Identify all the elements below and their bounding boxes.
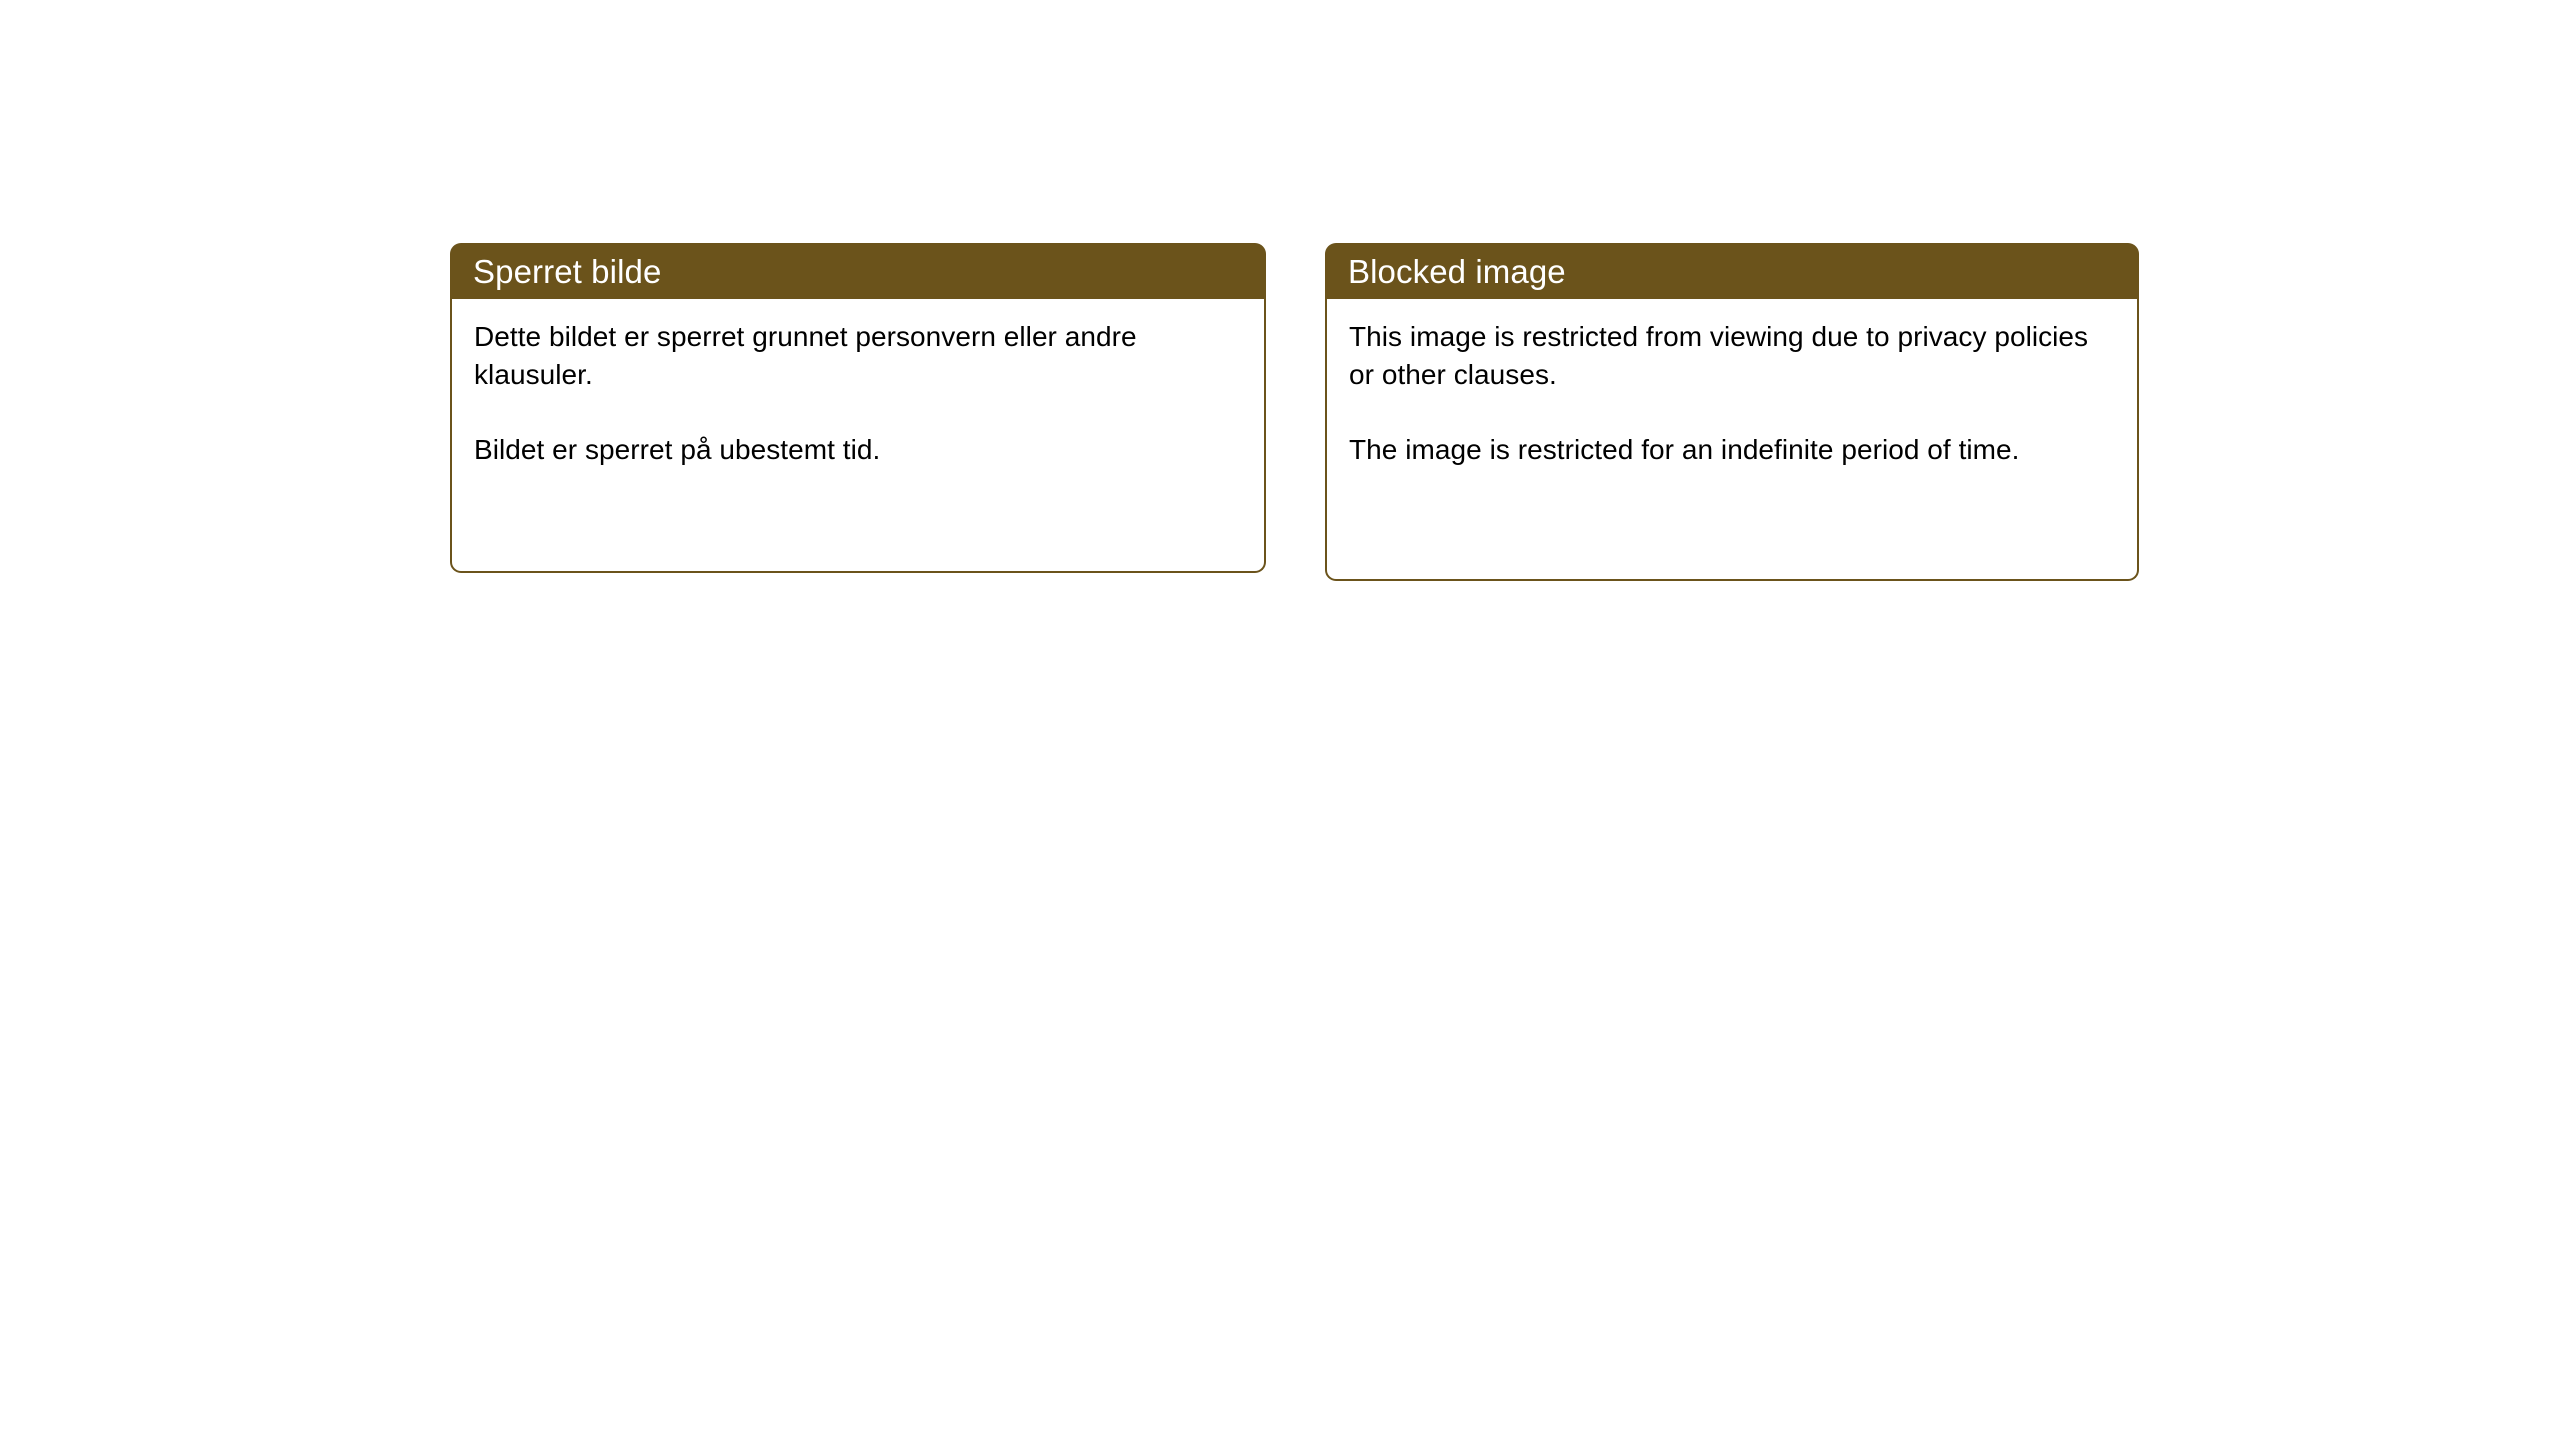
notice-paragraph-duration-en: The image is restricted for an indefinit… [1349,431,2115,469]
panel-header-en: Blocked image [1325,243,2139,299]
panel-title-en: Blocked image [1348,255,1566,288]
blocked-image-notice-en: Blocked image This image is restricted f… [1325,243,2139,581]
notice-paragraph-duration-no: Bildet er sperret på ubestemt tid. [474,431,1242,469]
notice-paragraph-reason-no: Dette bildet er sperret grunnet personve… [474,318,1242,395]
panel-header-no: Sperret bilde [450,243,1266,299]
panel-body-en: This image is restricted from viewing du… [1325,299,2139,581]
paragraph-spacer-en [1349,395,2115,431]
page-root: Sperret bilde Dette bildet er sperret gr… [0,0,2560,1440]
paragraph-spacer-no [474,395,1242,431]
blocked-image-notice-no: Sperret bilde Dette bildet er sperret gr… [450,243,1266,573]
panel-body-no: Dette bildet er sperret grunnet personve… [450,299,1266,573]
panel-title-no: Sperret bilde [473,255,661,288]
notice-paragraph-reason-en: This image is restricted from viewing du… [1349,318,2115,395]
